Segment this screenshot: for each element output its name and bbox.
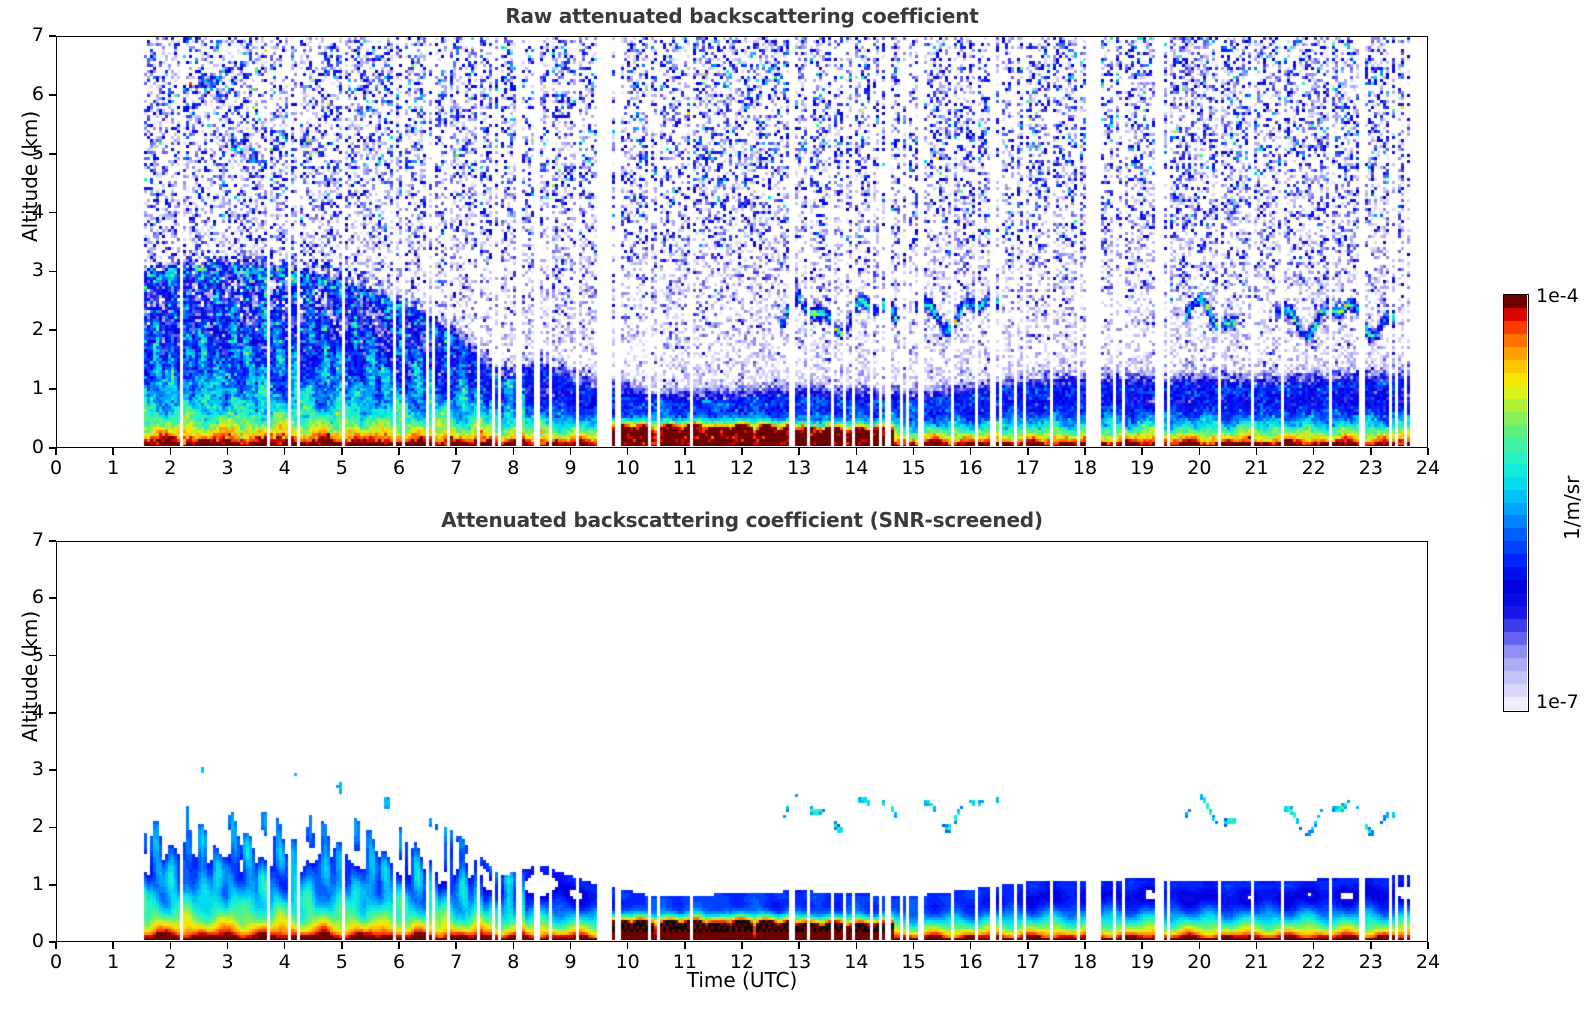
xticklabel-20: 20 <box>1169 951 1229 973</box>
xtick-8 <box>513 448 515 455</box>
ytick-0 <box>49 941 56 943</box>
xtick-16 <box>970 942 972 949</box>
xticklabel-21: 21 <box>1227 951 1287 973</box>
xtick-12 <box>741 448 743 455</box>
xticklabel-8: 8 <box>483 951 543 973</box>
xtick-10 <box>627 448 629 455</box>
xticklabel-16: 16 <box>941 457 1001 479</box>
xticklabel-8: 8 <box>483 457 543 479</box>
xtick-23 <box>1370 448 1372 455</box>
xtick-3 <box>227 942 229 949</box>
yticklabel-6: 6 <box>0 586 44 608</box>
xtick-18 <box>1084 448 1086 455</box>
xtick-9 <box>570 942 572 949</box>
xticklabel-11: 11 <box>655 457 715 479</box>
xticklabel-19: 19 <box>1112 457 1172 479</box>
xticklabel-21: 21 <box>1227 457 1287 479</box>
xtick-5 <box>341 942 343 949</box>
xticklabel-18: 18 <box>1055 951 1115 973</box>
colorbar <box>1503 294 1529 712</box>
colorbar-gradient <box>1504 295 1527 710</box>
xtick-21 <box>1256 448 1258 455</box>
colorbar-title: 1/m/sr <box>1560 476 1584 540</box>
ytick-4 <box>49 212 56 214</box>
xtick-6 <box>398 448 400 455</box>
yticklabel-4: 4 <box>0 201 44 223</box>
xtick-24 <box>1427 448 1429 455</box>
xtick-20 <box>1199 942 1201 949</box>
xtick-7 <box>455 448 457 455</box>
ytick-1 <box>49 884 56 886</box>
xticklabel-15: 15 <box>884 457 944 479</box>
xtick-17 <box>1027 448 1029 455</box>
xticklabel-1: 1 <box>83 951 143 973</box>
xticklabel-22: 22 <box>1284 951 1344 973</box>
ytick-7 <box>49 540 56 542</box>
xticklabel-2: 2 <box>140 457 200 479</box>
yticklabel-5: 5 <box>0 142 44 164</box>
figure-canvas: Raw attenuated backscattering coefficien… <box>0 0 1595 1020</box>
xticklabel-19: 19 <box>1112 951 1172 973</box>
xticklabel-18: 18 <box>1055 457 1115 479</box>
xticklabel-4: 4 <box>255 457 315 479</box>
xticklabel-6: 6 <box>369 951 429 973</box>
xticklabel-2: 2 <box>140 951 200 973</box>
xticklabel-16: 16 <box>941 951 1001 973</box>
xticklabel-13: 13 <box>769 951 829 973</box>
xtick-8 <box>513 942 515 949</box>
ytick-3 <box>49 769 56 771</box>
colorbar-max-label: 1e-4 <box>1536 285 1579 307</box>
xtick-13 <box>798 448 800 455</box>
yticklabel-3: 3 <box>0 758 44 780</box>
xtick-17 <box>1027 942 1029 949</box>
yticklabel-0: 0 <box>0 436 44 458</box>
xtick-6 <box>398 942 400 949</box>
yticklabel-4: 4 <box>0 701 44 723</box>
xtick-14 <box>856 942 858 949</box>
xticklabel-0: 0 <box>26 951 86 973</box>
xticklabel-17: 17 <box>998 951 1058 973</box>
xtick-22 <box>1313 448 1315 455</box>
xticklabel-14: 14 <box>826 457 886 479</box>
yticklabel-7: 7 <box>0 24 44 46</box>
xtick-20 <box>1199 448 1201 455</box>
xticklabel-1: 1 <box>83 457 143 479</box>
ytick-5 <box>49 655 56 657</box>
xticklabel-12: 12 <box>712 457 772 479</box>
yticklabel-1: 1 <box>0 873 44 895</box>
ytick-6 <box>49 597 56 599</box>
xtick-11 <box>684 448 686 455</box>
xtick-12 <box>741 942 743 949</box>
xticklabel-5: 5 <box>312 457 372 479</box>
xticklabel-3: 3 <box>198 951 258 973</box>
xticklabel-20: 20 <box>1169 457 1229 479</box>
xtick-10 <box>627 942 629 949</box>
xticklabel-13: 13 <box>769 457 829 479</box>
xtick-21 <box>1256 942 1258 949</box>
xticklabel-23: 23 <box>1341 951 1401 973</box>
xtick-16 <box>970 448 972 455</box>
xtick-4 <box>284 942 286 949</box>
xtick-1 <box>112 942 114 949</box>
xticklabel-15: 15 <box>884 951 944 973</box>
yticklabel-7: 7 <box>0 529 44 551</box>
xticklabel-9: 9 <box>541 951 601 973</box>
ytick-4 <box>49 712 56 714</box>
ytick-2 <box>49 329 56 331</box>
xticklabel-0: 0 <box>26 457 86 479</box>
xtick-22 <box>1313 942 1315 949</box>
ytick-6 <box>49 94 56 96</box>
xtick-2 <box>170 448 172 455</box>
xtick-14 <box>856 448 858 455</box>
panel-title-raw: Raw attenuated backscattering coefficien… <box>56 4 1428 28</box>
xticklabel-4: 4 <box>255 951 315 973</box>
xtick-19 <box>1141 448 1143 455</box>
xticklabel-9: 9 <box>541 457 601 479</box>
ytick-3 <box>49 271 56 273</box>
xticklabel-24: 24 <box>1398 457 1458 479</box>
xtick-9 <box>570 448 572 455</box>
xticklabel-7: 7 <box>426 457 486 479</box>
xticklabel-10: 10 <box>598 951 658 973</box>
xtick-7 <box>455 942 457 949</box>
xtick-4 <box>284 448 286 455</box>
xticklabel-6: 6 <box>369 457 429 479</box>
yticklabel-2: 2 <box>0 318 44 340</box>
yticklabel-2: 2 <box>0 815 44 837</box>
xtick-19 <box>1141 942 1143 949</box>
yticklabel-6: 6 <box>0 83 44 105</box>
ytick-0 <box>49 447 56 449</box>
xtick-5 <box>341 448 343 455</box>
ytick-2 <box>49 827 56 829</box>
heatmap-raw <box>57 37 1426 446</box>
xticklabel-23: 23 <box>1341 457 1401 479</box>
yticklabel-5: 5 <box>0 644 44 666</box>
xtick-0 <box>55 448 57 455</box>
axes-screened <box>56 541 1428 942</box>
panel-title-screened: Attenuated backscattering coefficient (S… <box>56 508 1428 532</box>
xticklabel-7: 7 <box>426 951 486 973</box>
xticklabel-3: 3 <box>198 457 258 479</box>
axes-raw <box>56 36 1428 448</box>
xtick-24 <box>1427 942 1429 949</box>
xticklabel-11: 11 <box>655 951 715 973</box>
xtick-2 <box>170 942 172 949</box>
heatmap-screened <box>57 542 1426 940</box>
yticklabel-1: 1 <box>0 377 44 399</box>
ytick-5 <box>49 153 56 155</box>
xtick-13 <box>798 942 800 949</box>
xtick-0 <box>55 942 57 949</box>
xticklabel-5: 5 <box>312 951 372 973</box>
xtick-23 <box>1370 942 1372 949</box>
xtick-3 <box>227 448 229 455</box>
xticklabel-22: 22 <box>1284 457 1344 479</box>
ytick-1 <box>49 388 56 390</box>
xticklabel-12: 12 <box>712 951 772 973</box>
xticklabel-10: 10 <box>598 457 658 479</box>
ytick-7 <box>49 35 56 37</box>
xtick-15 <box>913 942 915 949</box>
xtick-11 <box>684 942 686 949</box>
xtick-18 <box>1084 942 1086 949</box>
yticklabel-3: 3 <box>0 259 44 281</box>
yticklabel-0: 0 <box>0 930 44 952</box>
xtick-15 <box>913 448 915 455</box>
colorbar-min-label: 1e-7 <box>1536 691 1579 713</box>
xticklabel-14: 14 <box>826 951 886 973</box>
xticklabel-17: 17 <box>998 457 1058 479</box>
xtick-1 <box>112 448 114 455</box>
xticklabel-24: 24 <box>1398 951 1458 973</box>
